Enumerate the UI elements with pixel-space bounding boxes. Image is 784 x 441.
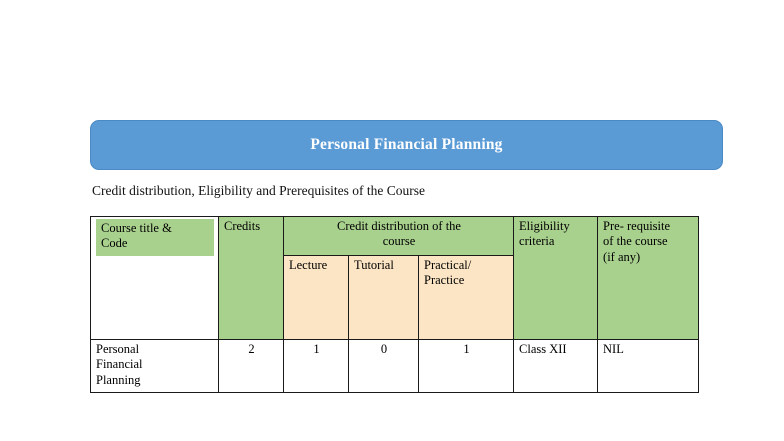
header-cell-lecture: Lecture — [284, 256, 349, 340]
cell-prerequisite: NIL — [598, 340, 699, 393]
header-cell-eligibility: Eligibility criteria — [514, 217, 598, 340]
cell-eligibility: Class XII — [514, 340, 598, 393]
cell-eligibility-value: Class XII — [519, 342, 567, 356]
header-eligibility-line1: Eligibility — [519, 219, 570, 233]
header-course-title-line1: Course title & — [101, 221, 172, 235]
header-tutorial-label: Tutorial — [354, 258, 394, 272]
header-credit-distribution-line1: Credit distribution of the — [337, 219, 461, 233]
cell-tutorial: 0 — [349, 340, 419, 393]
cell-lecture-value: 1 — [313, 342, 319, 356]
cell-tutorial-value: 0 — [381, 342, 387, 356]
banner-title-text: Personal Financial Planning — [310, 137, 502, 153]
header-cell-tutorial: Tutorial — [349, 256, 419, 340]
header-practical-line2: Practice — [424, 273, 464, 287]
header-cell-prerequisite: Pre- requisite of the course (if any) — [598, 217, 699, 340]
section-subtitle: Credit distribution, Eligibility and Pre… — [92, 183, 425, 199]
header-practical-line1: Practical/ — [424, 258, 471, 272]
header-cell-credit-distribution: Credit distribution of the course — [284, 217, 514, 256]
cell-course-title-line1: Personal — [96, 342, 139, 356]
header-cell-course-title: Course title & Code — [91, 217, 219, 340]
cell-lecture: 1 — [284, 340, 349, 393]
header-cell-practical: Practical/ Practice — [419, 256, 514, 340]
header-prerequisite-line2: of the course — [603, 234, 668, 248]
cell-course-title-line3: Planning — [96, 373, 140, 387]
credit-distribution-table: Course title & Code Credits Credit distr… — [90, 216, 699, 393]
cell-course-title-line2: Financial — [96, 357, 143, 371]
cell-course-title: Personal Financial Planning — [91, 340, 219, 393]
header-eligibility-line2: criteria — [519, 234, 554, 248]
header-cell-credits: Credits — [219, 217, 284, 340]
header-prerequisite-line1: Pre- requisite — [603, 219, 670, 233]
cell-credits-value: 2 — [248, 342, 254, 356]
cell-credits: 2 — [219, 340, 284, 393]
cell-practical: 1 — [419, 340, 514, 393]
header-prerequisite-line3: (if any) — [603, 250, 640, 264]
header-credit-distribution-line2: course — [383, 234, 416, 248]
cell-prerequisite-value: NIL — [603, 342, 624, 356]
header-credits-label: Credits — [224, 219, 260, 233]
table-header-row-primary: Course title & Code Credits Credit distr… — [91, 217, 699, 256]
header-lecture-label: Lecture — [289, 258, 327, 272]
header-course-title-line2: Code — [101, 236, 127, 250]
table-row: Personal Financial Planning 2 1 0 1 Clas… — [91, 340, 699, 393]
cell-practical-value: 1 — [463, 342, 469, 356]
course-title-banner: Personal Financial Planning — [90, 120, 723, 170]
